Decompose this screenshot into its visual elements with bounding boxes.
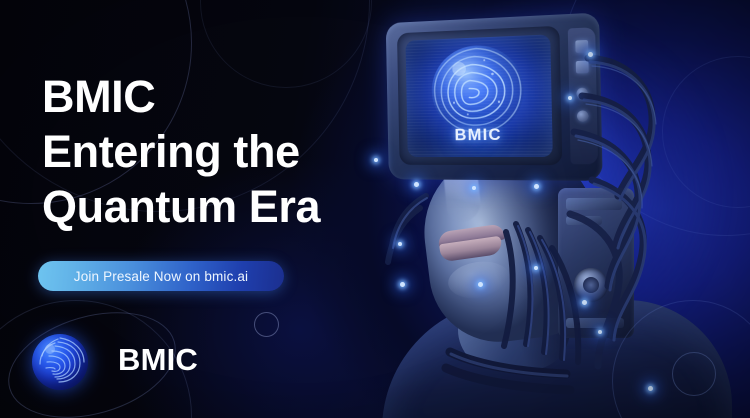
promo-banner: BMIC (0, 0, 750, 418)
page-title: BMIC Entering the Quantum Era (42, 70, 387, 235)
join-presale-button[interactable]: Join Presale Now on bmic.ai (38, 261, 284, 291)
headline-line-2: Entering the (42, 125, 387, 180)
brand-wordmark: BMIC (118, 342, 198, 378)
headline-line-3: Quantum Era (42, 180, 387, 235)
brand-logo[interactable]: BMIC (32, 330, 232, 390)
content-column: BMIC Entering the Quantum Era Join Presa… (0, 0, 400, 418)
join-presale-button-label: Join Presale Now on bmic.ai (74, 269, 248, 284)
headline-line-1: BMIC (42, 70, 387, 125)
fingerprint-sphere-icon (32, 334, 88, 390)
